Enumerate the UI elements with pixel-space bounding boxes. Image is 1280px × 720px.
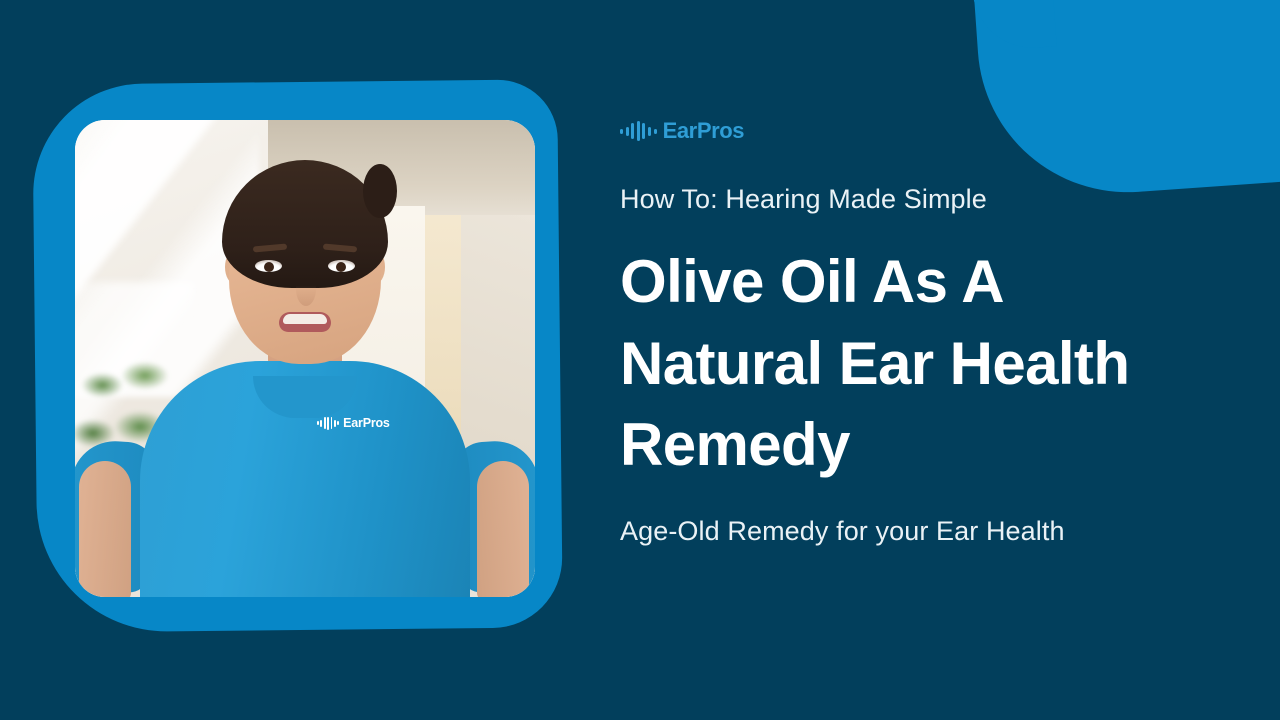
person-teeth [283, 314, 327, 324]
brand-name: EarPros [663, 118, 745, 144]
waveform-icon [317, 417, 339, 430]
slide-eyebrow: How To: Hearing Made Simple [620, 184, 1250, 215]
tshirt-brand-name: EarPros [343, 416, 390, 430]
brand-logo: EarPros [620, 118, 1250, 144]
headline-line: Remedy [620, 404, 1250, 486]
slide-content: EarPros How To: Hearing Made Simple Oliv… [620, 118, 1250, 547]
person-nose [296, 272, 316, 306]
headline-line: Olive Oil As A [620, 241, 1250, 323]
person-arm-left [79, 461, 131, 597]
person-hair [222, 160, 388, 288]
person-pupil-right [336, 262, 346, 272]
tshirt-brand-logo: EarPros [317, 416, 390, 430]
headline-line: Natural Ear Health [620, 323, 1250, 405]
person-pupil-left [264, 262, 274, 272]
person-arm-right [477, 461, 529, 597]
slide-subtitle: Age-Old Remedy for your Ear Health [620, 516, 1250, 547]
slide-headline: Olive Oil As A Natural Ear Health Remedy [620, 241, 1250, 486]
photo-person: EarPros [75, 120, 535, 597]
waveform-icon [620, 121, 657, 141]
presenter-photo: EarPros [75, 120, 535, 597]
presentation-slide: EarPros EarPros How To: Hearing Made Sim… [0, 0, 1280, 720]
person-hair-bun [363, 164, 397, 218]
